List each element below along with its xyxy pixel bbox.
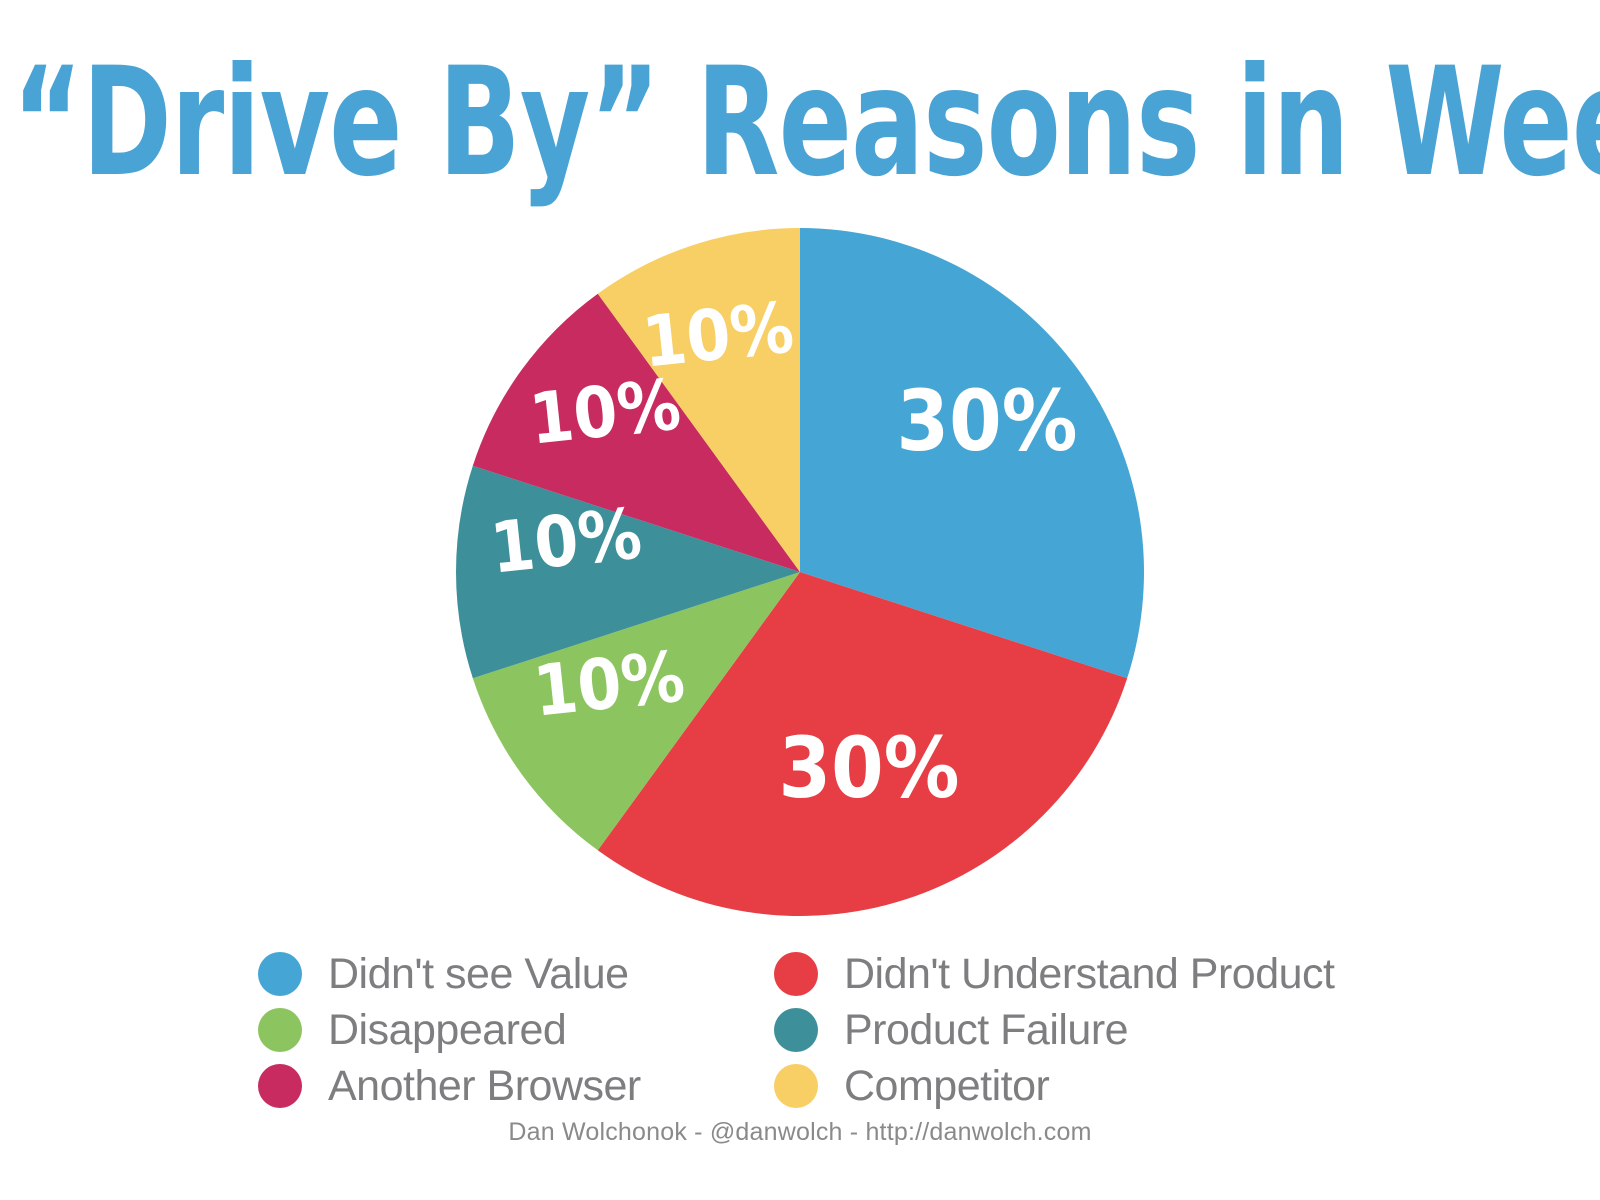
legend-item-label: Didn't see Value: [328, 951, 629, 997]
legend-color-swatch-icon: [774, 952, 818, 996]
chart-legend: Didn't see ValueDisappearedAnother Brows…: [258, 946, 1368, 1118]
legend-color-swatch-icon: [258, 952, 302, 996]
legend-item[interactable]: Disappeared: [258, 1002, 748, 1058]
pie-label-group: 30%30%10%10%10%10%: [487, 286, 1078, 817]
pie-slice: [456, 466, 800, 679]
legend-item[interactable]: Didn't Understand Product: [774, 946, 1368, 1002]
pie-slice-label: 10%: [639, 286, 797, 383]
pie-slice: [598, 228, 800, 572]
legend-color-swatch-icon: [774, 1064, 818, 1108]
pie-slice: [473, 294, 800, 572]
legend-item-label: Product Failure: [844, 1007, 1128, 1053]
pie-slice: [598, 572, 1127, 916]
pie-slice-label: 10%: [530, 635, 688, 732]
legend-item[interactable]: Didn't see Value: [258, 946, 748, 1002]
legend-item[interactable]: Another Browser: [258, 1058, 748, 1114]
legend-item[interactable]: Competitor: [774, 1058, 1368, 1114]
pie-slice-group: [456, 228, 1144, 916]
pie-slice: [473, 572, 800, 850]
slide-canvas: “Drive By” Reasons in Week One 30%30%10%…: [0, 0, 1600, 1200]
pie-slice-label: 30%: [897, 372, 1078, 470]
footer-credit: Dan Wolchonok - @danwolch - http://danwo…: [0, 1118, 1600, 1147]
legend-item-label: Didn't Understand Product: [844, 951, 1334, 997]
pie-slice: [800, 228, 1144, 678]
pie-slice-label: 10%: [526, 363, 684, 460]
legend-color-swatch-icon: [774, 1008, 818, 1052]
legend-item[interactable]: Product Failure: [774, 1002, 1368, 1058]
pie-slice-label: 30%: [779, 719, 960, 817]
page-title: “Drive By” Reasons in Week One: [12, 48, 1273, 198]
legend-column-left: Didn't see ValueDisappearedAnother Brows…: [258, 946, 748, 1114]
legend-color-swatch-icon: [258, 1064, 302, 1108]
legend-item-label: Competitor: [844, 1063, 1049, 1109]
legend-column-right: Didn't Understand ProductProduct Failure…: [774, 946, 1368, 1114]
legend-item-label: Another Browser: [328, 1063, 641, 1109]
legend-color-swatch-icon: [258, 1008, 302, 1052]
pie-slice-label: 10%: [487, 492, 645, 589]
legend-item-label: Disappeared: [328, 1007, 566, 1053]
